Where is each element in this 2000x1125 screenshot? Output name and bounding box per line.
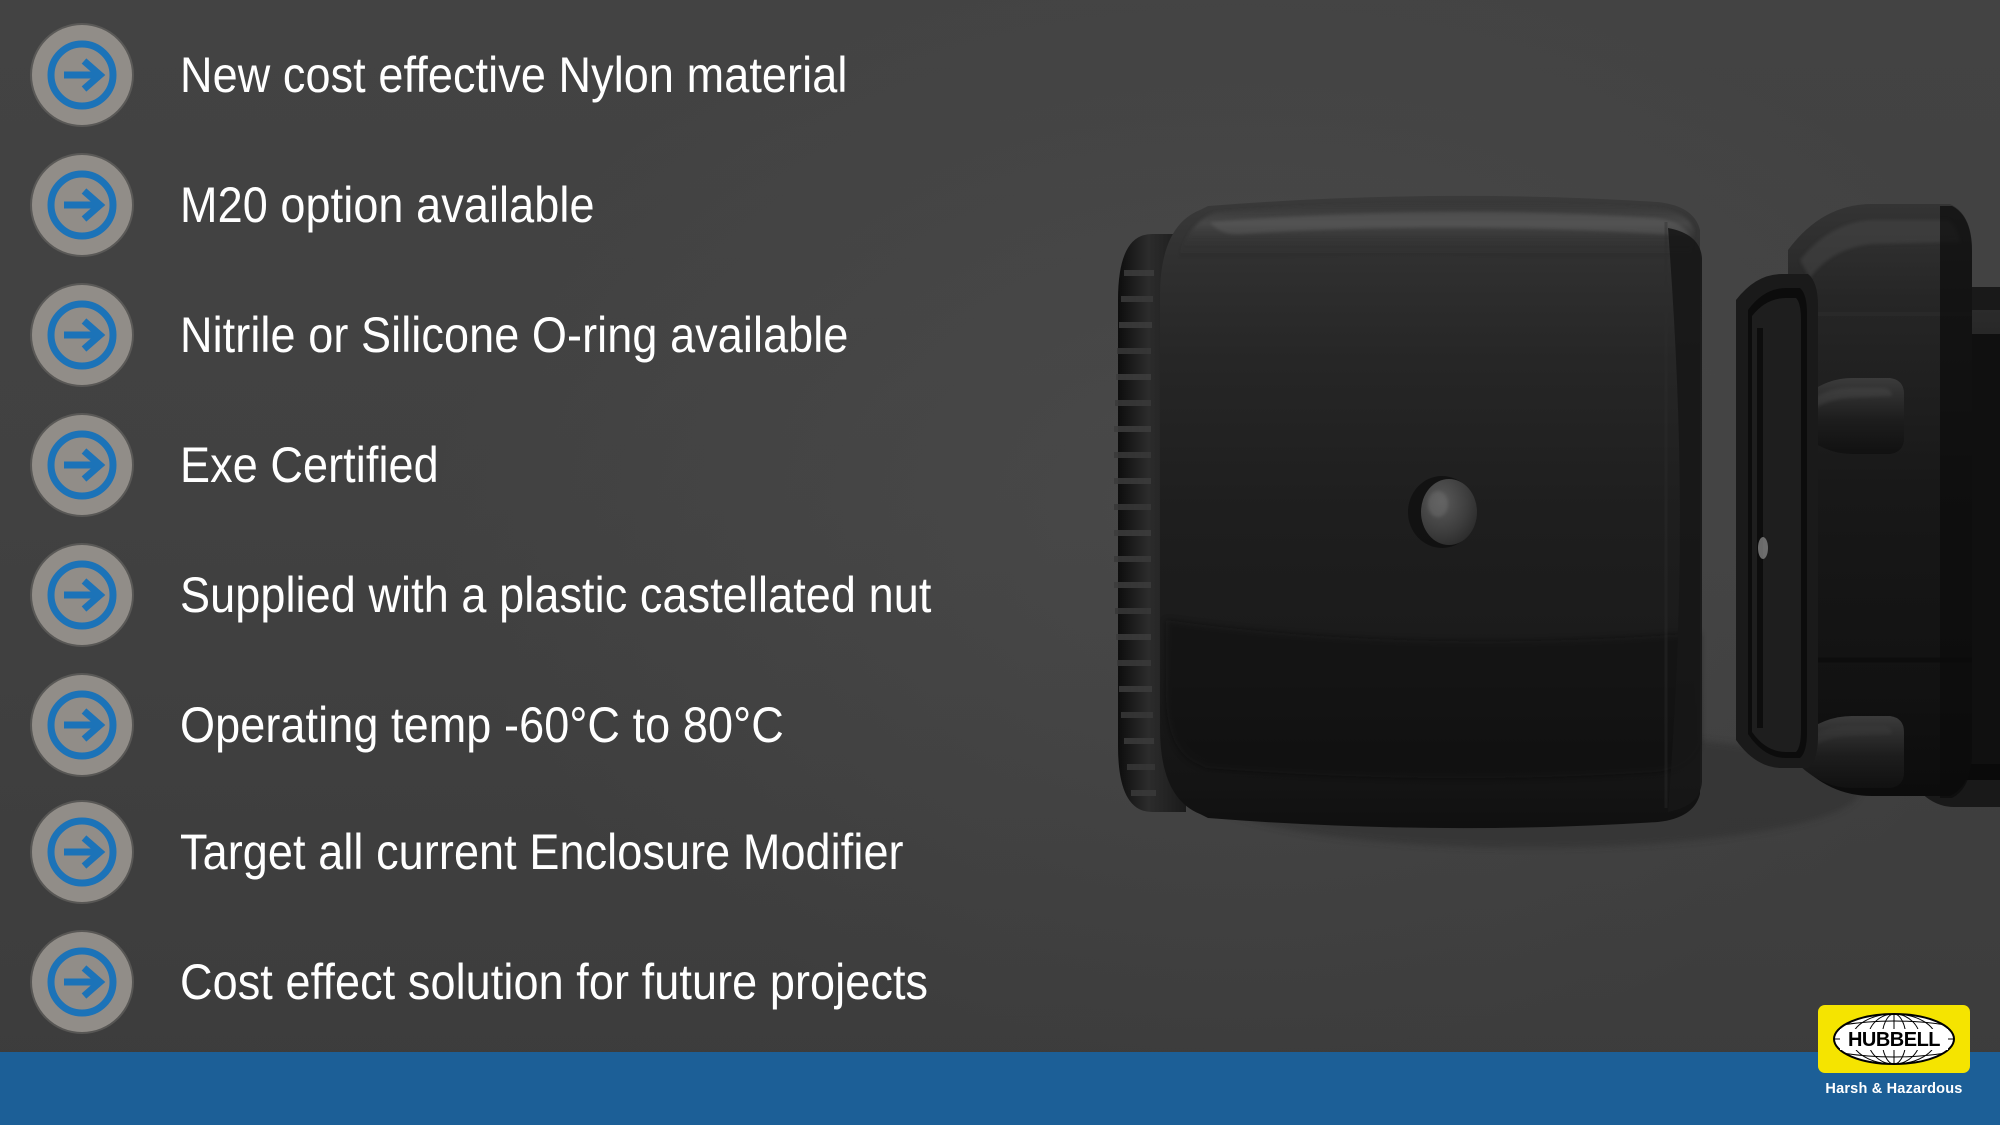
arrow-circle-right-icon bbox=[30, 283, 134, 387]
list-item[interactable]: M20 option available bbox=[0, 153, 641, 257]
hubbell-tagline: Harsh & Hazardous bbox=[1818, 1081, 1970, 1097]
list-item[interactable]: Target all current Enclosure Modifier bbox=[0, 800, 984, 904]
list-item-label: Exe Certified bbox=[180, 440, 439, 490]
list-item-label: Target all current Enclosure Modifier bbox=[180, 827, 904, 877]
list-item-label: New cost effective Nylon material bbox=[180, 50, 847, 100]
product-image bbox=[1100, 100, 2000, 930]
arrow-circle-right-icon bbox=[30, 930, 134, 1034]
list-item[interactable]: Cost effect solution for future projects bbox=[0, 930, 1011, 1034]
footer-bar bbox=[0, 1052, 2000, 1125]
arrow-circle-right-icon bbox=[30, 543, 134, 647]
list-item[interactable]: Supplied with a plastic castellated nut bbox=[0, 543, 1015, 647]
list-item[interactable]: Exe Certified bbox=[0, 413, 468, 517]
arrow-circle-right-icon bbox=[30, 23, 134, 127]
list-item-label: Cost effect solution for future projects bbox=[180, 957, 928, 1007]
feature-bullet-list: New cost effective Nylon material M20 op… bbox=[0, 0, 1130, 1055]
list-item-label: M20 option available bbox=[180, 180, 595, 230]
list-item[interactable]: Operating temp -60°C to 80°C bbox=[0, 673, 851, 777]
list-item-label: Operating temp -60°C to 80°C bbox=[180, 700, 784, 750]
slide-canvas: New cost effective Nylon material M20 op… bbox=[0, 0, 2000, 1125]
hubbell-wordmark: HUBBELL bbox=[1848, 1029, 1940, 1051]
list-item[interactable]: Nitrile or Silicone O-ring available bbox=[0, 283, 923, 387]
list-item-label: Nitrile or Silicone O-ring available bbox=[180, 310, 849, 360]
arrow-circle-right-icon bbox=[30, 413, 134, 517]
arrow-circle-right-icon bbox=[30, 153, 134, 257]
list-item-label: Supplied with a plastic castellated nut bbox=[180, 570, 931, 620]
arrow-circle-right-icon bbox=[30, 673, 134, 777]
list-item[interactable]: New cost effective Nylon material bbox=[0, 23, 922, 127]
hubbell-logo: HUBBELL Harsh & Hazardous bbox=[1818, 1005, 1970, 1117]
arrow-circle-right-icon bbox=[30, 800, 134, 904]
hubbell-logo-plate: HUBBELL bbox=[1818, 1005, 1970, 1073]
